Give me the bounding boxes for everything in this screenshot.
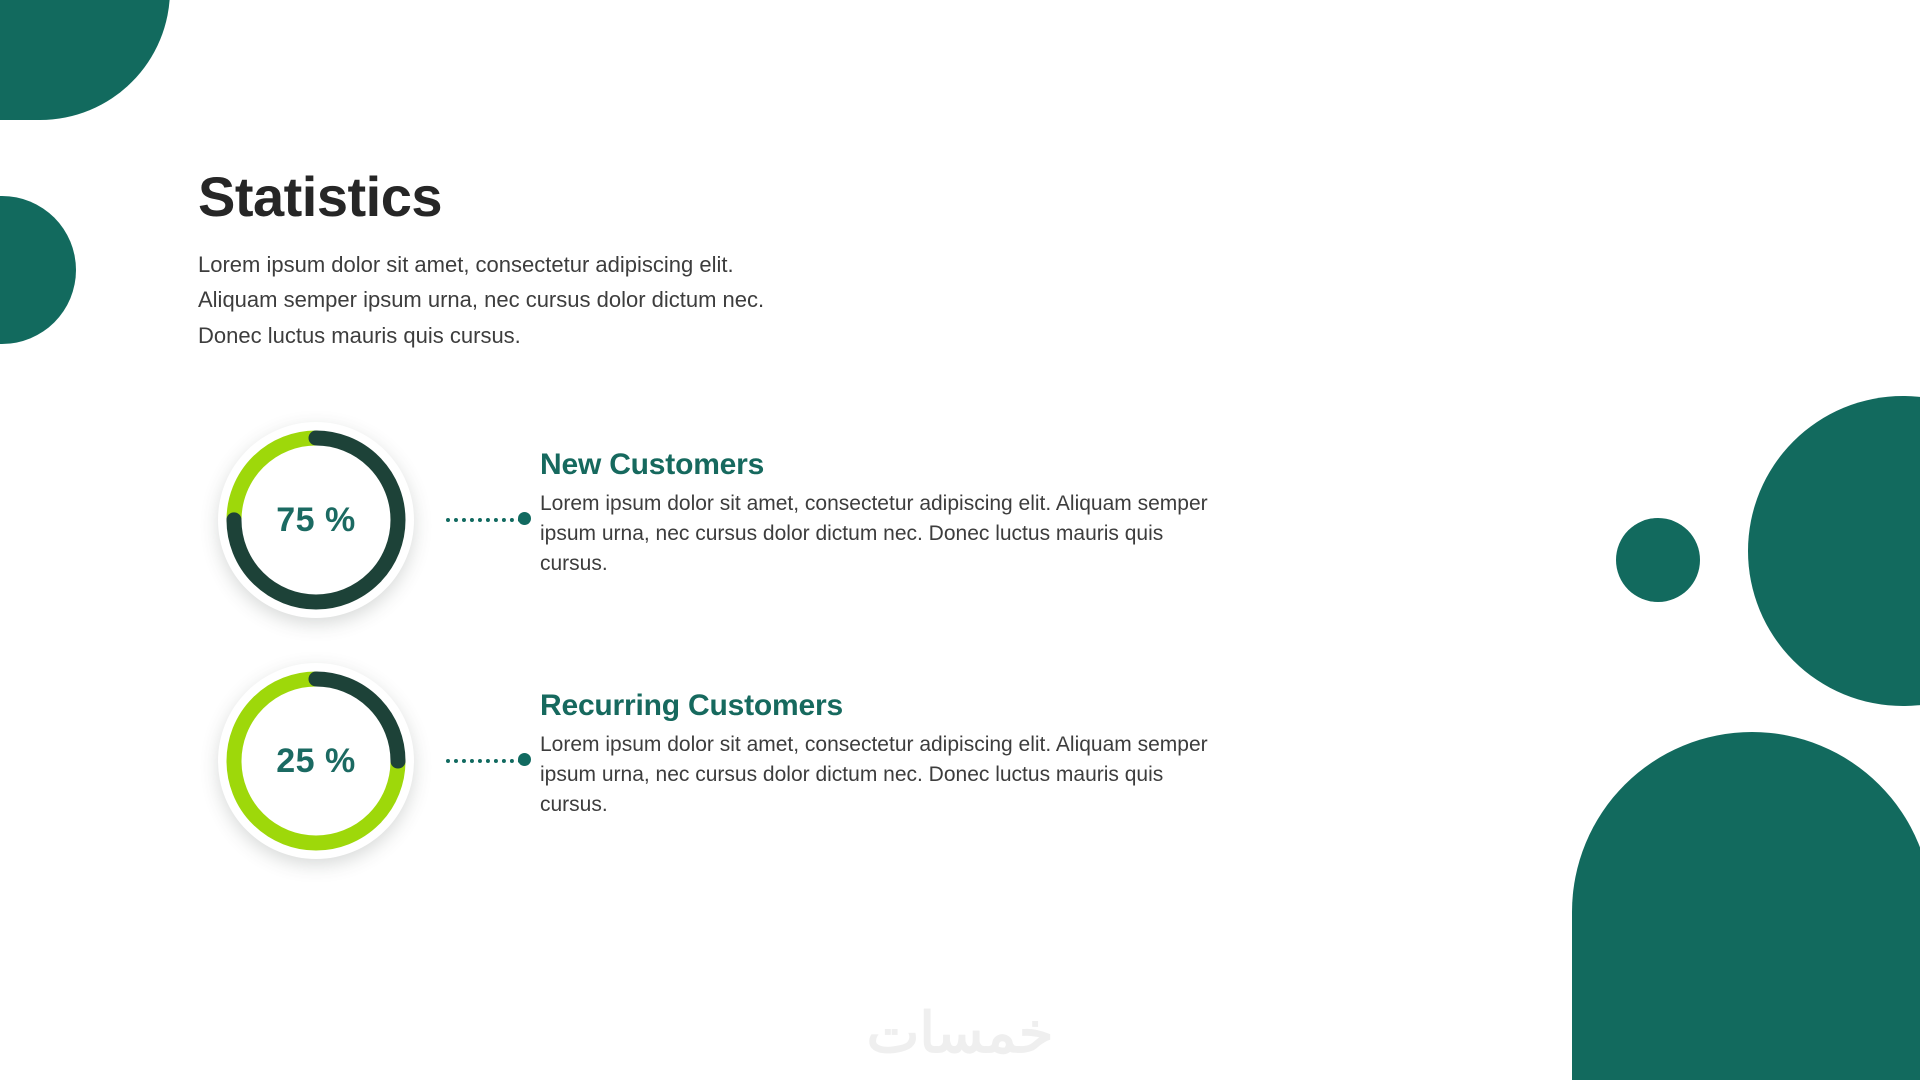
connector-line-group <box>422 414 540 626</box>
intro-paragraph: Lorem ipsum dolor sit amet, consectetur … <box>198 247 1198 354</box>
dotted-connector-line <box>446 759 522 763</box>
slide-canvas: Statistics Lorem ipsum dolor sit amet, c… <box>0 0 1920 1080</box>
decoration-right-small-circle <box>1616 518 1700 602</box>
watermark-text: خمسات <box>0 1000 1920 1066</box>
intro-line-1: Lorem ipsum dolor sit amet, consectetur … <box>198 247 1198 283</box>
stat-row: 25 % Recurring Customers Lorem ipsum dol… <box>210 655 1230 867</box>
decoration-left-edge-circle <box>0 196 76 344</box>
dotted-connector-line <box>446 518 522 522</box>
intro-line-2: Aliquam semper ipsum urna, nec cursus do… <box>198 282 1198 318</box>
header-block: Statistics Lorem ipsum dolor sit amet, c… <box>198 168 1198 354</box>
stat-description-new-customers: Lorem ipsum dolor sit amet, consectetur … <box>540 489 1230 580</box>
donut-value-label: 25 % <box>218 663 414 859</box>
decoration-right-large-circle <box>1748 396 1920 706</box>
stat-title-recurring-customers: Recurring Customers <box>540 689 1230 724</box>
stat-text-block: New Customers Lorem ipsum dolor sit amet… <box>540 414 1230 580</box>
stat-text-block: Recurring Customers Lorem ipsum dolor si… <box>540 655 1230 821</box>
decoration-top-left-quarter-round <box>0 0 170 120</box>
donut-chart-new-customers: 75 % <box>210 414 422 626</box>
connector-end-dot-icon <box>518 512 531 525</box>
stat-title-new-customers: New Customers <box>540 448 1230 483</box>
intro-line-3: Donec luctus mauris quis cursus. <box>198 318 1198 354</box>
donut-chart-recurring-customers: 25 % <box>210 655 422 867</box>
connector-line-group <box>422 655 540 867</box>
stat-description-recurring-customers: Lorem ipsum dolor sit amet, consectetur … <box>540 730 1230 821</box>
page-title: Statistics <box>198 168 1198 227</box>
donut-value-label: 75 % <box>218 422 414 618</box>
connector-end-dot-icon <box>518 753 531 766</box>
stat-row: 75 % New Customers Lorem ipsum dolor sit… <box>210 414 1230 626</box>
